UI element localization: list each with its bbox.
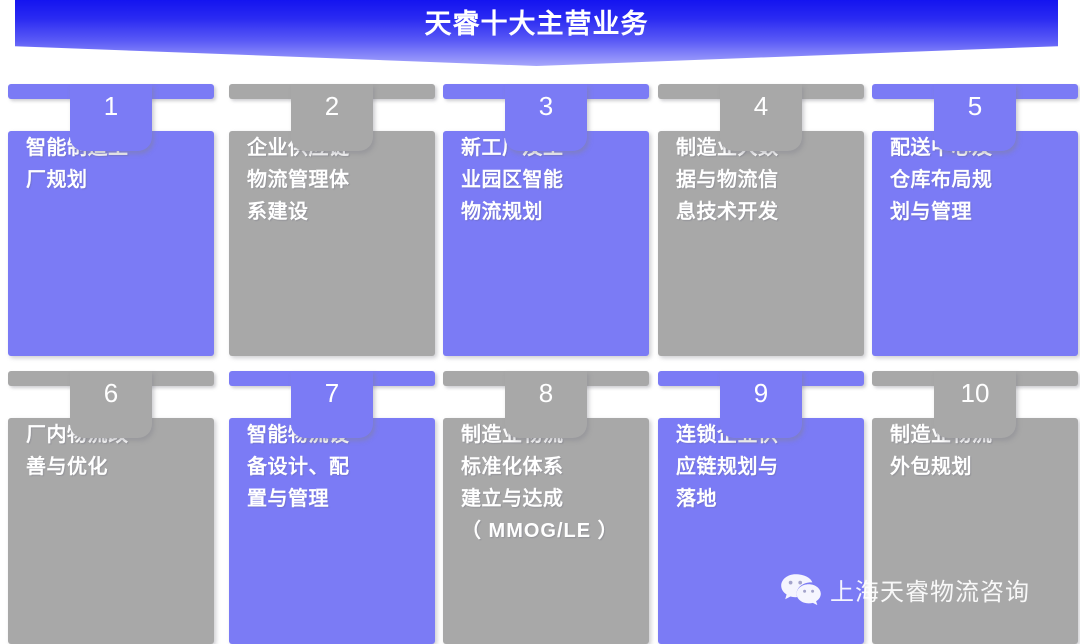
card-number-badge: 7 [291,371,373,438]
card-caption-line: 物流管理体 [247,164,423,196]
business-card-5[interactable]: 5配送中心及仓库布局规划与管理 [872,84,1078,356]
card-caption-line: 备设计、配 [247,451,423,483]
card-caption: 制造业物流标准化体系建立与达成（ MMOG/LE ） [461,419,637,547]
card-number-badge: 4 [720,84,802,151]
card-row-1: 1智能制造工厂规划2企业供应链物流管理体系建设3新工厂及工业园区智能物流规划4制… [0,84,1080,356]
card-caption-line: 厂规划 [26,164,202,196]
business-card-7[interactable]: 7智能物流设备设计、配置与管理 [229,371,435,644]
card-number-badge: 9 [720,371,802,438]
card-caption-line: 建立与达成 [461,483,637,515]
business-card-4[interactable]: 4制造业大数据与物流信息技术开发 [658,84,864,356]
card-caption-line: 息技术开发 [676,196,852,228]
card-caption-line: 善与优化 [26,451,202,483]
card-caption-line: （ MMOG/LE ） [461,515,637,547]
card-number-badge: 6 [70,371,152,438]
card-caption-line: 据与物流信 [676,164,852,196]
card-number-badge: 10 [934,371,1016,438]
card-caption-line: 划与管理 [890,196,1066,228]
card-number-badge: 5 [934,84,1016,151]
business-card-6[interactable]: 6厂内物流改善与优化 [8,371,214,644]
business-card-3[interactable]: 3新工厂及工业园区智能物流规划 [443,84,649,356]
card-number-badge: 2 [291,84,373,151]
card-caption-line: 物流规划 [461,196,637,228]
card-caption-line: 应链规划与 [676,451,852,483]
card-caption-line: 业园区智能 [461,164,637,196]
card-number-badge: 1 [70,84,152,151]
card-row-2: 6厂内物流改善与优化7智能物流设备设计、配置与管理8制造业物流标准化体系建立与达… [0,371,1080,644]
card-caption-line: 系建设 [247,196,423,228]
card-number-badge: 8 [505,371,587,438]
card-caption-line: 标准化体系 [461,451,637,483]
business-card-1[interactable]: 1智能制造工厂规划 [8,84,214,356]
card-caption-line: 外包规划 [890,451,1066,483]
card-caption-line: 置与管理 [247,483,423,515]
card-caption-line: 仓库布局规 [890,164,1066,196]
card-caption-line: 落地 [676,483,852,515]
card-number-badge: 3 [505,84,587,151]
page-title: 天睿十大主营业务 [15,0,1058,48]
slide-canvas: 天睿十大主营业务 1智能制造工厂规划2企业供应链物流管理体系建设3新工厂及工业园… [0,0,1080,644]
business-card-9[interactable]: 9连锁企业供应链规划与落地 [658,371,864,644]
business-card-2[interactable]: 2企业供应链物流管理体系建设 [229,84,435,356]
business-card-8[interactable]: 8制造业物流标准化体系建立与达成（ MMOG/LE ） [443,371,649,644]
header-banner: 天睿十大主营业务 [15,0,1058,66]
business-card-10[interactable]: 10制造业物流外包规划 [872,371,1078,644]
